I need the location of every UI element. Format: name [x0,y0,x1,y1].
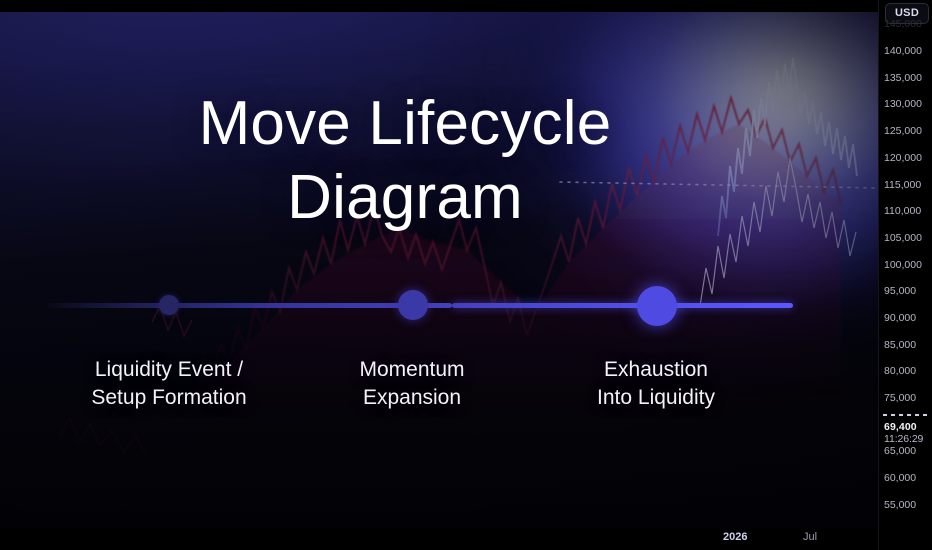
current-price-dashed-line [883,414,927,416]
timeline-label-3-line-1: Exhaustion [536,356,776,384]
current-price-marker[interactable]: 69,400 11:26:29 [879,421,932,445]
price-tick: 55,000 [879,499,929,511]
price-tick: 115,000 [879,179,929,191]
timeline-dot-momentum-expansion[interactable] [398,290,428,320]
price-tick: 140,000 [879,45,929,57]
timeline-dot-exhaustion-into-liquidity[interactable] [637,286,677,326]
time-axis-label-jul: Jul [803,531,817,543]
timeline-label-liquidity-event: Liquidity Event / Setup Formation [49,356,289,412]
price-tick: 90,000 [879,312,929,324]
current-price-value: 69,400 [879,421,932,433]
price-tick: 75,000 [879,392,929,404]
timeline-label-1-line-2: Setup Formation [49,384,289,412]
current-price-time: 11:26:29 [879,433,932,445]
price-tick: 145,000 [879,18,929,30]
price-tick: 110,000 [879,205,929,217]
timeline-dot-liquidity-event[interactable] [159,295,179,315]
time-axis-label-2026: 2026 [723,531,747,543]
timeline: Liquidity Event / Setup Formation Moment… [0,6,878,528]
price-tick: 85,000 [879,339,929,351]
price-tick: 120,000 [879,152,929,164]
canvas-top-mask [0,6,878,12]
screen-root: Move Lifecycle Diagram Liquidity Event /… [0,0,932,550]
timeline-track-left [48,303,452,308]
timeline-label-exhaustion-into-liquidity: Exhaustion Into Liquidity [536,356,776,412]
price-tick: 60,000 [879,472,929,484]
price-tick: 100,000 [879,259,929,271]
timeline-track-right [452,303,793,308]
price-tick: 135,000 [879,72,929,84]
price-tick: 125,000 [879,125,929,137]
timeline-label-3-line-2: Into Liquidity [536,384,776,412]
chart-canvas[interactable]: Move Lifecycle Diagram Liquidity Event /… [0,6,878,528]
time-axis[interactable]: 2026 Jul [0,528,878,550]
timeline-label-momentum-expansion: Momentum Expansion [293,356,531,412]
price-axis[interactable]: USD 145,000 140,000 135,000 130,000 125,… [878,0,932,550]
timeline-label-1-line-1: Liquidity Event / [49,356,289,384]
price-tick: 130,000 [879,98,929,110]
price-tick: 105,000 [879,232,929,244]
timeline-label-2-line-2: Expansion [293,384,531,412]
price-tick: 65,000 [879,445,929,457]
price-tick: 95,000 [879,285,929,297]
timeline-label-2-line-1: Momentum [293,356,531,384]
price-tick: 80,000 [879,365,929,377]
